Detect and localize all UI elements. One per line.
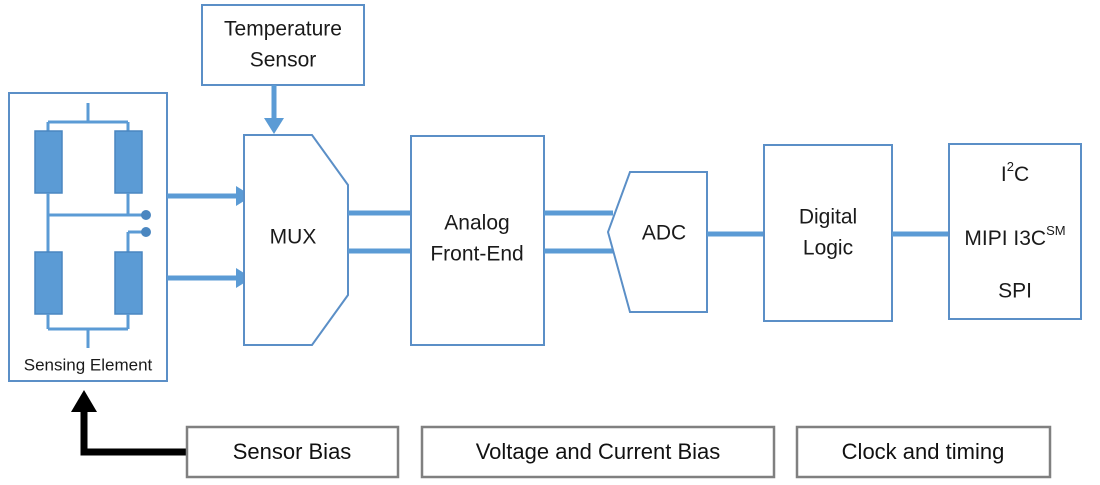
interface-label-spi: SPI bbox=[998, 280, 1032, 303]
temperature-sensor-label-line2: Sensor bbox=[250, 49, 317, 72]
resistor-upper-right bbox=[115, 131, 142, 193]
diagram-svg: Sensing Element Temperature Sensor MUX A… bbox=[0, 0, 1100, 485]
resistor-lower-left bbox=[35, 252, 62, 314]
digital-logic-box[interactable] bbox=[764, 145, 892, 321]
resistor-upper-left bbox=[35, 131, 62, 193]
clock-timing-label: Clock and timing bbox=[842, 439, 1005, 464]
block-diagram-canvas: Sensing Element Temperature Sensor MUX A… bbox=[0, 0, 1100, 485]
bridge-output-terminal-positive bbox=[142, 211, 151, 220]
voltage-current-bias-label: Voltage and Current Bias bbox=[476, 439, 721, 464]
interface-mipi-base: MIPI I3C bbox=[964, 227, 1046, 250]
interface-i2c-superscript: 2 bbox=[1007, 159, 1014, 174]
interface-i2c-tail: C bbox=[1014, 163, 1029, 186]
digital-logic-label-line2: Logic bbox=[803, 237, 853, 260]
resistor-lower-right bbox=[115, 252, 142, 314]
temperature-sensor-label-line1: Temperature bbox=[224, 18, 342, 41]
tempsensor-to-mux-arrowhead bbox=[264, 118, 284, 134]
mux-label: MUX bbox=[270, 226, 317, 249]
sensor-bias-to-sensing-element-elbow bbox=[84, 410, 186, 452]
sensor-bias-label: Sensor Bias bbox=[233, 439, 352, 464]
digital-logic-label-line1: Digital bbox=[799, 206, 857, 229]
analog-front-end-label-line1: Analog bbox=[444, 212, 509, 235]
bridge-output-terminal-negative bbox=[142, 228, 151, 237]
analog-front-end-box[interactable] bbox=[411, 136, 544, 345]
sensor-bias-arrowhead bbox=[71, 390, 97, 412]
interface-mipi-superscript: SM bbox=[1046, 223, 1066, 238]
adc-label: ADC bbox=[642, 222, 686, 245]
interface-label-i2c: I2C bbox=[1001, 159, 1029, 186]
sensing-element-label: Sensing Element bbox=[24, 355, 153, 374]
analog-front-end-label-line2: Front-End bbox=[430, 243, 523, 266]
